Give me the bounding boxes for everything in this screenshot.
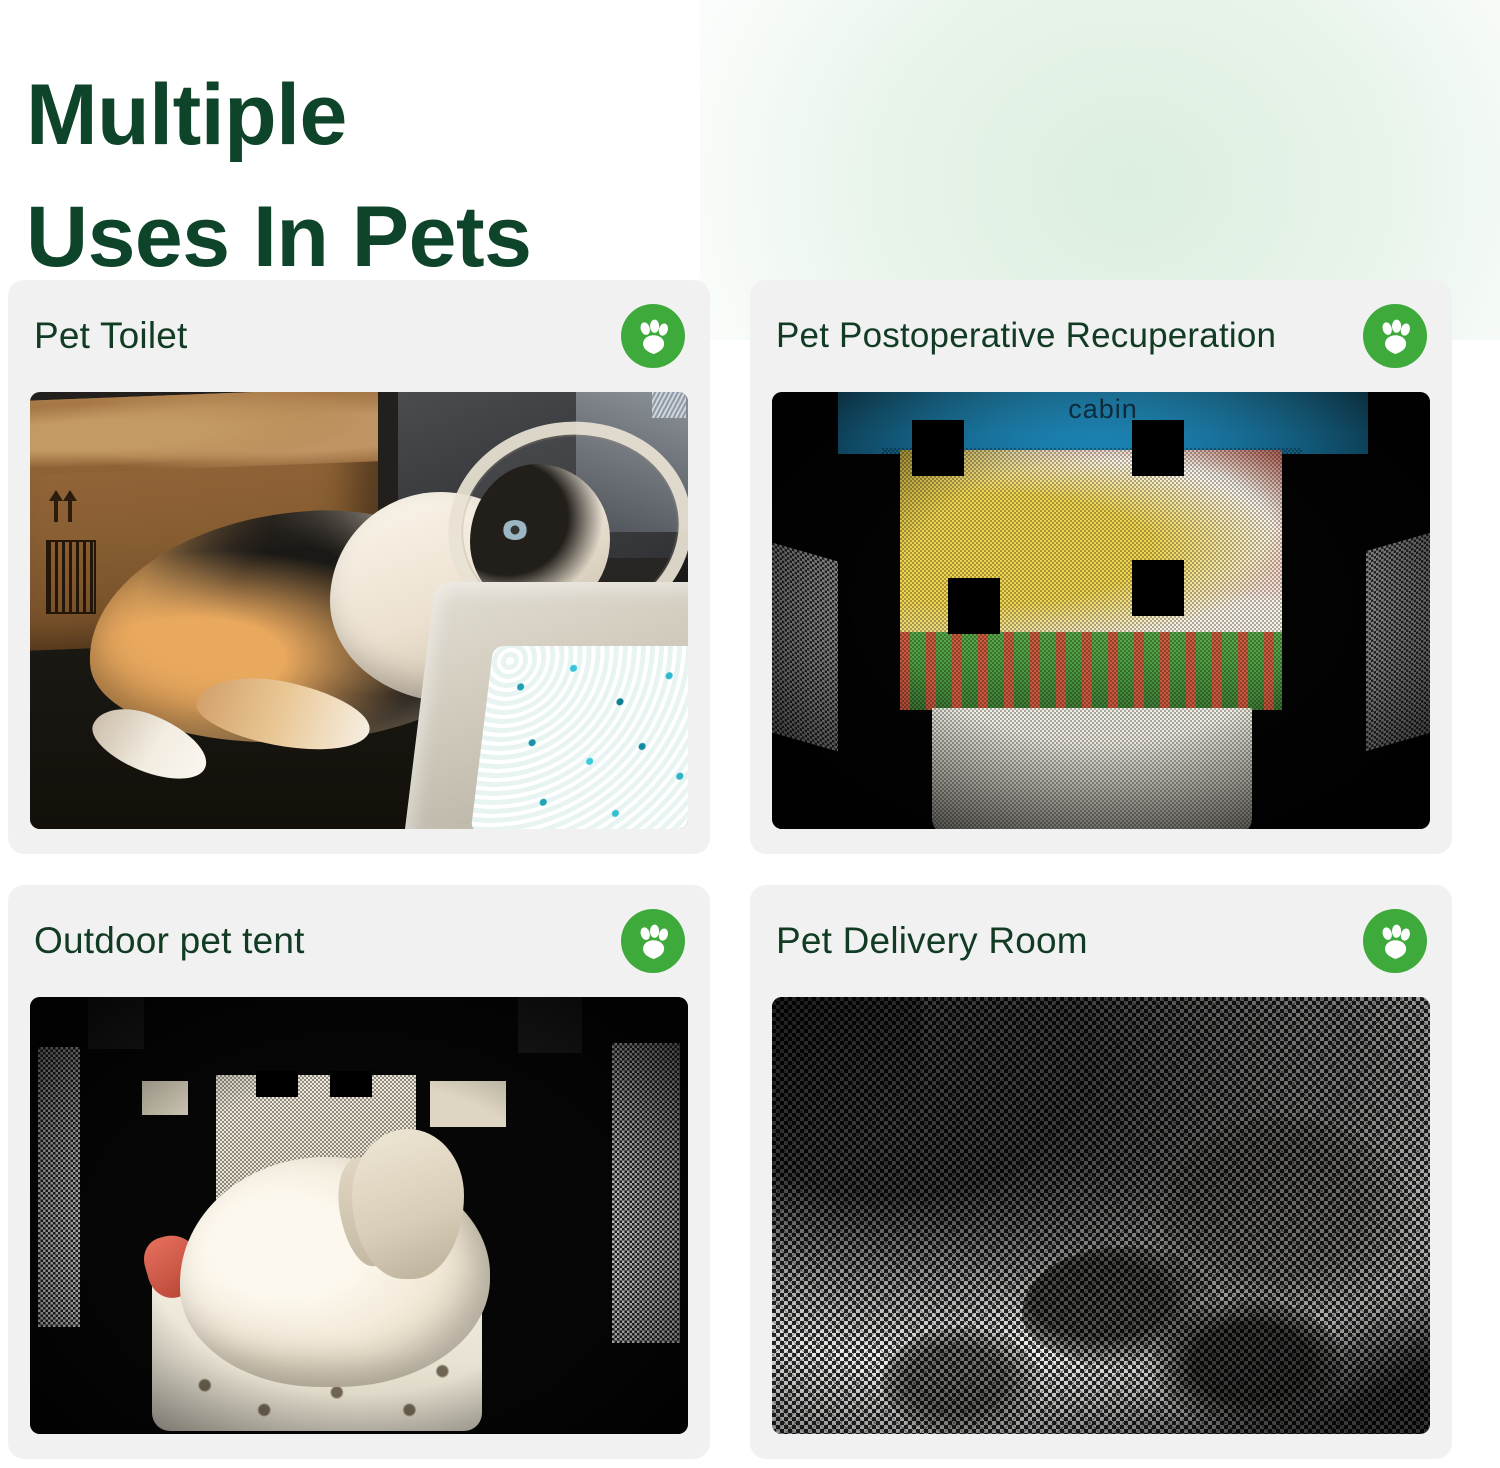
card-header: Outdoor pet tent	[8, 885, 710, 997]
card-photo	[772, 997, 1430, 1434]
card-title: Pet Toilet	[34, 316, 188, 357]
use-card-outdoor-pet-tent[interactable]: Outdoor pet tent	[8, 885, 710, 1459]
card-photo: cabin	[772, 392, 1430, 829]
paw-icon	[621, 909, 685, 973]
card-photo	[30, 997, 688, 1434]
card-title: Pet Postoperative Recuperation	[776, 317, 1276, 356]
card-header: Pet Delivery Room	[750, 885, 1452, 997]
page-title: Multiple Uses In Pets	[26, 54, 786, 298]
paw-icon	[621, 304, 685, 368]
use-card-pet-postoperative-recuperation[interactable]: Pet Postoperative Recuperation cabin	[750, 280, 1452, 854]
card-title: Pet Delivery Room	[776, 921, 1088, 962]
card-title: Outdoor pet tent	[34, 921, 305, 962]
card-header: Pet Postoperative Recuperation	[750, 280, 1452, 392]
paw-icon	[1363, 909, 1427, 973]
use-card-pet-delivery-room[interactable]: Pet Delivery Room	[750, 885, 1452, 1459]
uses-grid: Pet Toilet Pet Pos	[8, 280, 1460, 1459]
paw-icon	[1363, 304, 1427, 368]
use-card-pet-toilet[interactable]: Pet Toilet	[8, 280, 710, 854]
card-photo	[30, 392, 688, 829]
